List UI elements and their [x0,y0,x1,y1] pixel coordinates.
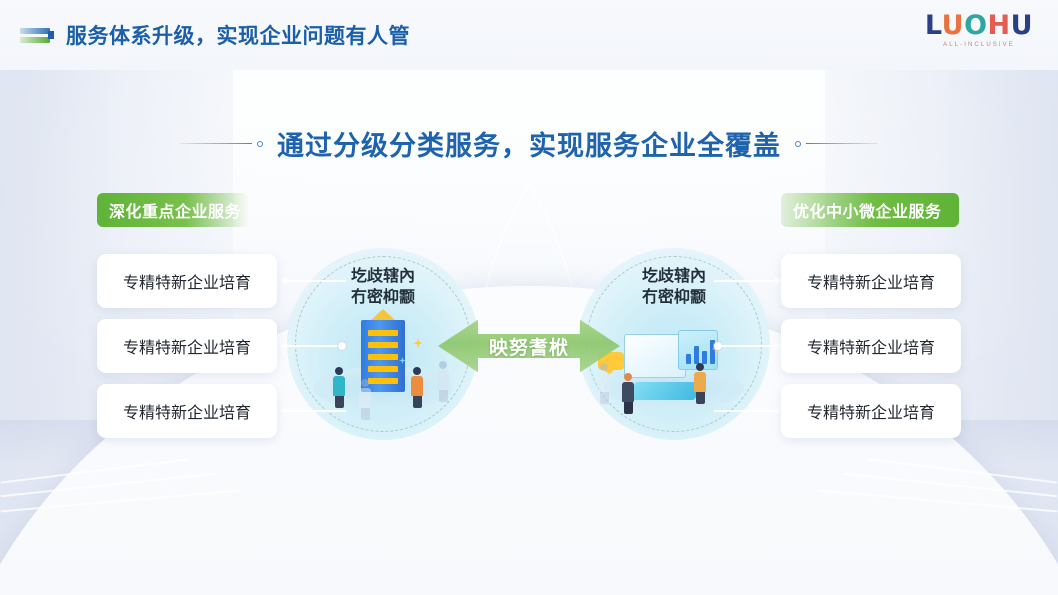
person-figure [359,379,371,420]
logo-letter-3: O [964,10,987,41]
page-title: 服务体系升级，实现企业问题有人管 [66,20,410,50]
list-item[interactable]: 专精特新企业培育 [97,384,277,438]
connector-left-3 [280,406,346,416]
logo-letter-2: U [942,10,964,41]
sparkle-icon [413,338,423,348]
person-legs [600,392,609,404]
person-body [333,376,345,396]
luohu-logo: LUOHU ALL-INCLUSIVE [924,12,1034,48]
monitor-screen [624,334,686,378]
person-legs [624,402,633,414]
chart-bar [694,346,699,364]
person-head [413,367,421,375]
bar-green [20,37,50,43]
bar-chart-icon [686,338,715,364]
arrow-tip [280,277,287,285]
person-body [411,376,423,396]
page-header: 服务体系升级，实现企业问题有人管 LUOHU ALL-INCLUSIVE [0,0,1058,70]
connector-line [722,345,775,347]
person-legs [361,408,370,420]
rule-line [180,143,252,144]
list-item[interactable]: 专精特新企业培育 [97,319,277,373]
badge-right-sme: 优化中小微企业服务 [781,193,959,227]
connector-line [714,280,775,282]
person-head [361,379,369,387]
circle-left-label-line2: 冇密枊颥 [287,287,479,308]
arrow-tip [280,407,287,415]
connector-line [287,410,346,412]
title-rule-right [795,141,878,147]
person-figure [694,363,706,404]
connector-right-2 [714,341,782,351]
list-item[interactable]: 专精特新企业培育 [781,384,961,438]
tower-window [368,366,398,372]
person-legs [439,390,448,402]
logo-letter-1: L [925,10,942,41]
center-arrow-label: 映努耆栿 [489,333,569,360]
rule-line [806,143,878,144]
person-figure [333,367,345,408]
rule-dot [795,141,801,147]
square-accent [48,31,54,39]
connector-line [287,345,338,347]
connector-line [714,410,775,412]
connector-left-2 [280,341,346,351]
person-body [622,382,634,402]
logo-letter-4: H [988,10,1011,41]
section-title: 通过分级分类服务，实现服务企业全覆盖 [277,124,781,163]
badge-left-key-enterprises: 深化重点企业服务 [97,193,249,227]
logo-letter-5: U [1011,10,1033,41]
tower-window [368,342,398,348]
arrow-tip [280,342,287,350]
connector-right-1 [714,276,782,286]
person-body [359,388,371,408]
connector-right-3 [714,406,782,416]
logo-tagline: ALL-INCLUSIVE [924,42,1034,48]
connector-left-1 [280,276,346,286]
list-item[interactable]: 专精特新企业培育 [781,254,961,308]
person-head [624,373,632,381]
connector-node [714,342,722,350]
logo-wordmark: LUOHU [924,12,1034,39]
connector-line [287,280,346,282]
bars-accent-icon [20,25,54,45]
person-figure [622,373,634,414]
tower-window [368,354,398,360]
list-item[interactable]: 专精特新企业培育 [781,319,961,373]
tower-window [368,330,398,336]
slide-canvas: 服务体系升级，实现企业问题有人管 LUOHU ALL-INCLUSIVE 通过分… [0,0,1058,595]
person-figure [411,367,423,408]
bar-blue [20,28,50,34]
rule-dot [257,141,263,147]
title-rule-left [180,141,263,147]
section-title-row: 通过分级分类服务，实现服务企业全覆盖 [0,124,1058,163]
circle-right-label-line2: 冇密枊颥 [578,287,770,308]
connector-node [338,342,346,350]
circle-right-label: 圪歧辖內 冇密枊颥 [578,266,770,308]
person-body [694,372,706,392]
person-head [696,363,704,371]
chart-bar [686,354,691,364]
person-legs [413,396,422,408]
tower-window [368,378,398,384]
list-item[interactable]: 专精特新企业培育 [97,254,277,308]
person-legs [696,392,705,404]
person-head [335,367,343,375]
double-arrow-icon: 映努耆栿 [438,316,620,376]
circle-left-label: 圪歧辖內 冇密枊颥 [287,266,479,308]
